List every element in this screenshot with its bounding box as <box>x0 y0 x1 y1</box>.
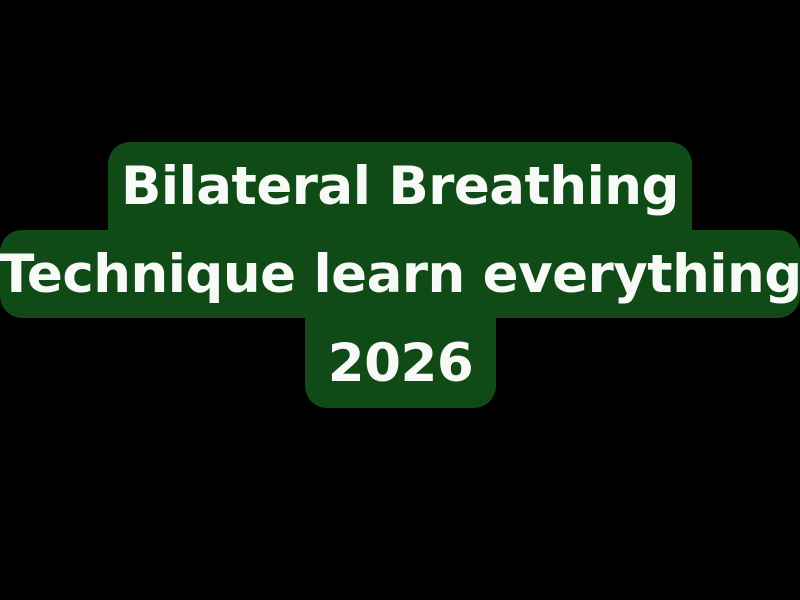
title-line-1: Bilateral Breathing <box>108 142 692 230</box>
title-line-2: Technique learn everything <box>0 230 800 318</box>
title-line-3: 2026 <box>305 318 496 408</box>
title-banner: Bilateral Breathing Technique learn ever… <box>0 142 800 408</box>
image-canvas: Bilateral Breathing Technique learn ever… <box>0 0 800 600</box>
